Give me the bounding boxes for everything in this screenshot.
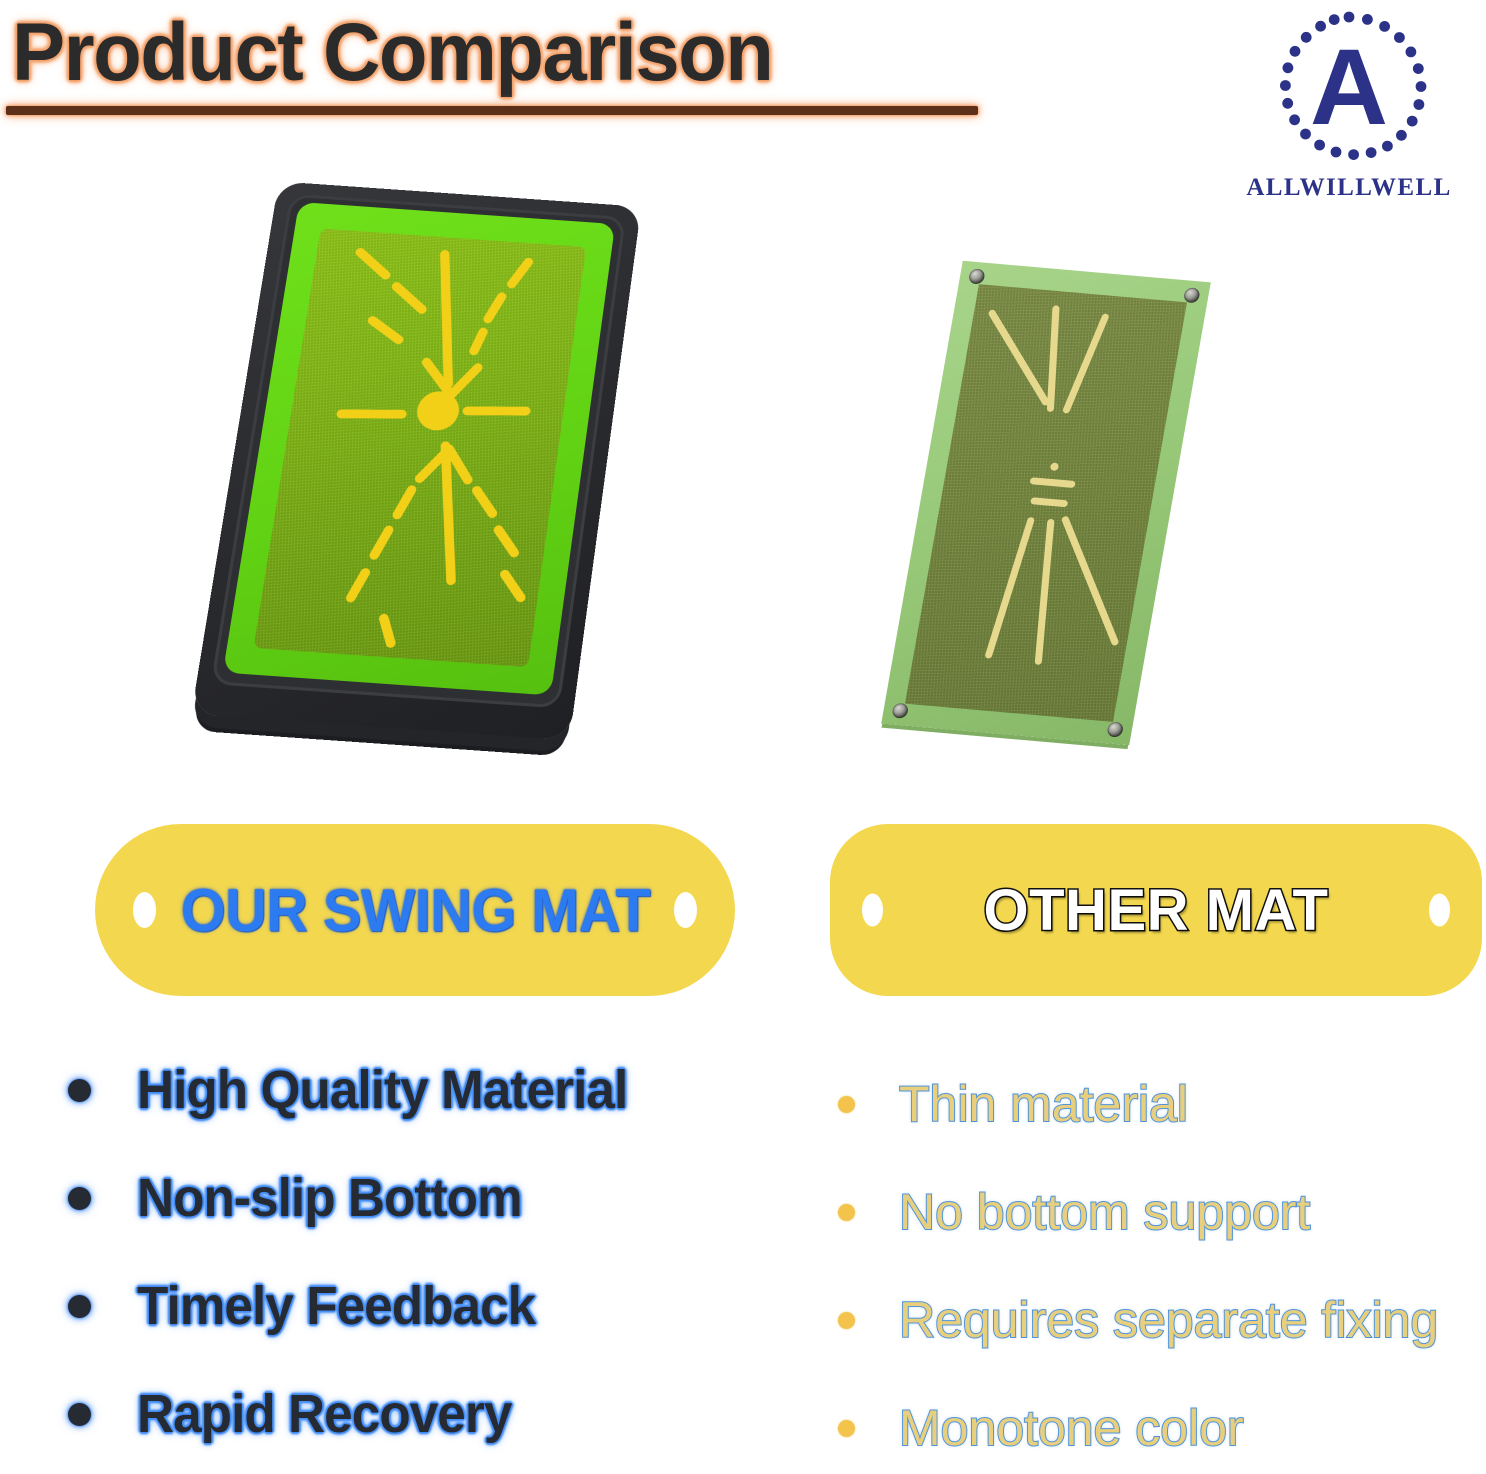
- our-swing-mat-photo: [196, 160, 736, 780]
- bullet-icon: [838, 1420, 855, 1437]
- bullet-icon: [68, 1403, 91, 1426]
- grommet-icon: [891, 703, 909, 719]
- list-item: Timely Feedback: [68, 1252, 798, 1360]
- bullet-icon: [68, 1295, 91, 1318]
- other-mat-feature-list: Thin material No bottom support Requires…: [838, 1050, 1486, 1474]
- other-mat-banner-label: OTHER MAT: [984, 877, 1329, 944]
- feature-label: Rapid Recovery: [137, 1383, 511, 1445]
- other-mat-banner: OTHER MAT: [830, 824, 1482, 996]
- other-mat-center-dot: [1050, 462, 1059, 471]
- list-item: High Quality Material: [68, 1036, 798, 1144]
- feature-label: High Quality Material: [137, 1059, 627, 1121]
- mat-turf-surface: [254, 228, 587, 667]
- bullet-icon: [68, 1079, 91, 1102]
- page-title: Product Comparison: [12, 12, 772, 94]
- mat-alignment-markings-icon: [254, 228, 587, 667]
- bullet-icon: [838, 1312, 855, 1329]
- feature-label: Thin material: [899, 1075, 1188, 1133]
- list-item: Requires separate fixing: [838, 1266, 1486, 1374]
- grommet-icon: [1106, 722, 1124, 738]
- title-underline: [6, 106, 978, 115]
- other-mat-turf-surface: [905, 284, 1187, 722]
- feature-label: Timely Feedback: [137, 1275, 535, 1337]
- other-mat-photo: [880, 260, 1320, 780]
- other-mat-board: [881, 261, 1211, 746]
- banner-hole-icon: [862, 894, 883, 927]
- feature-label: Requires separate fixing: [899, 1291, 1438, 1349]
- bullet-icon: [838, 1204, 855, 1221]
- our-swing-mat-banner: OUR SWING MAT: [95, 824, 735, 996]
- list-item: Rapid Recovery: [68, 1360, 798, 1468]
- list-item: Non-slip Bottom: [68, 1144, 798, 1252]
- logo-letter-a: A: [1265, 8, 1433, 170]
- banner-hole-icon: [133, 892, 156, 928]
- logo-dotted-circle-icon: A: [1265, 8, 1433, 170]
- bullet-icon: [68, 1187, 91, 1210]
- grommet-icon: [1183, 287, 1201, 303]
- feature-label: No bottom support: [899, 1183, 1310, 1241]
- list-item: Monotone color: [838, 1374, 1486, 1474]
- product-comparison-infographic: Product Comparison: [0, 0, 1486, 1474]
- our-swing-mat-feature-list: High Quality Material Non-slip Bottom Ti…: [68, 1036, 798, 1468]
- other-mat-markings-icon: [905, 284, 1187, 722]
- product-images-row: [0, 150, 1486, 810]
- banner-hole-icon: [1429, 894, 1450, 927]
- grommet-icon: [968, 268, 986, 284]
- list-item: Thin material: [838, 1050, 1486, 1158]
- list-item: No bottom support: [838, 1158, 1486, 1266]
- our-swing-mat-banner-label: OUR SWING MAT: [180, 876, 649, 945]
- feature-label: Non-slip Bottom: [137, 1167, 522, 1229]
- banner-hole-icon: [674, 892, 697, 928]
- bullet-icon: [838, 1096, 855, 1113]
- feature-label: Monotone color: [899, 1399, 1244, 1457]
